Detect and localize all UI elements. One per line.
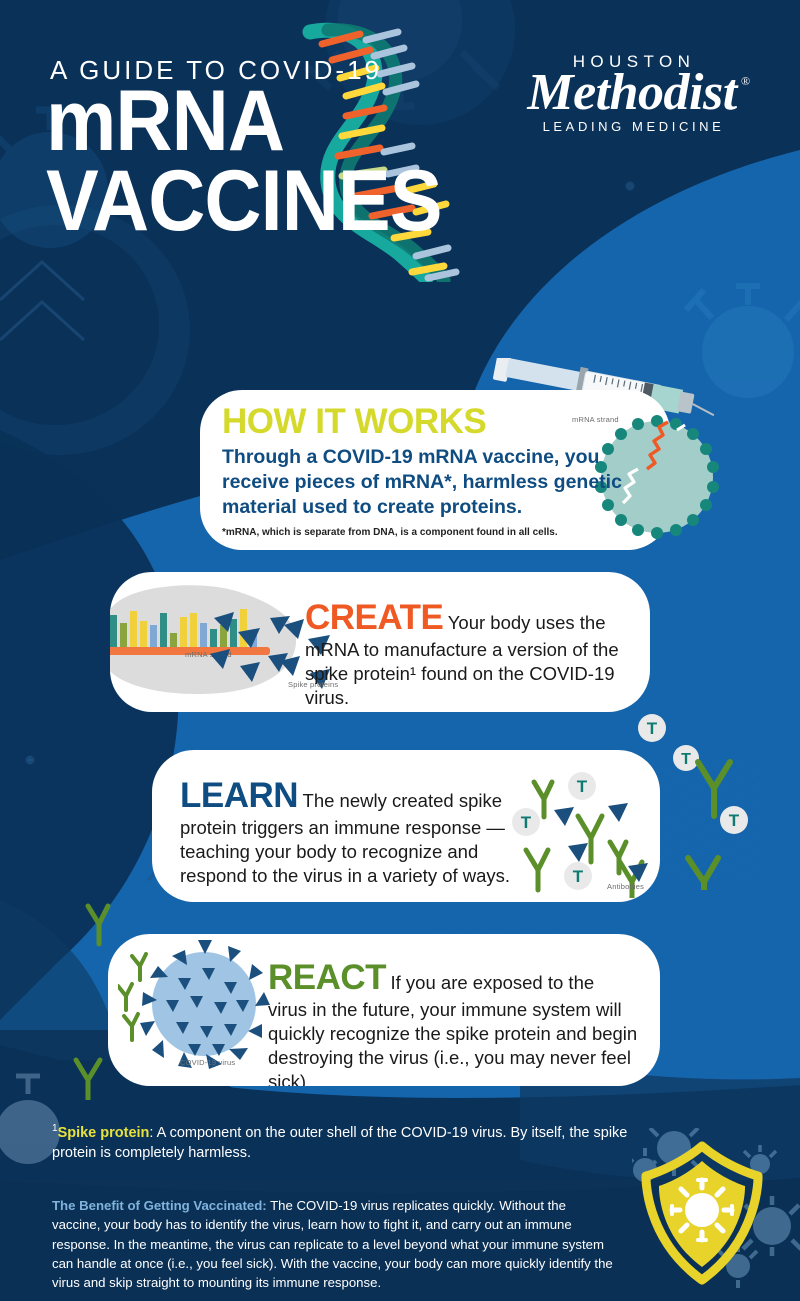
caption-antibodies: Antibodies xyxy=(607,882,644,891)
card-create: mRNA strand Spike proteins CREATE Your b… xyxy=(110,572,650,712)
logo-methodist: Methodist® xyxy=(527,68,736,117)
how-it-works-footnote: *mRNA, which is separate from DNA, is a … xyxy=(222,527,652,538)
card-react: COVID-19 virus REACT If you are exposed … xyxy=(108,934,660,1086)
svg-text:T: T xyxy=(681,751,691,768)
houston-methodist-logo: HOUSTON Methodist® LEADING MEDICINE xyxy=(502,52,762,134)
how-it-works-heading: HOW IT WORKS xyxy=(222,402,486,441)
card-learn: LEARN The newly created spike protein tr… xyxy=(152,750,660,902)
registered-trademark-icon: ® xyxy=(741,76,750,87)
react-content: REACT If you are exposed to the virus in… xyxy=(268,958,638,1086)
learn-heading: LEARN xyxy=(180,776,298,815)
header: A GUIDE TO COVID-19 mRNA VACCINES HOUSTO… xyxy=(0,0,800,290)
learn-content: LEARN The newly created spike protein tr… xyxy=(180,776,540,888)
spike-protein-footnote: 1Spike protein: A component on the outer… xyxy=(52,1122,652,1164)
svg-text:T: T xyxy=(573,867,584,886)
title-line-2: VACCINES xyxy=(46,162,442,242)
footnote-label: Spike protein xyxy=(58,1125,150,1141)
logo-tagline: LEADING MEDICINE xyxy=(502,119,762,134)
create-heading: CREATE xyxy=(305,598,443,637)
spike-proteins-icon xyxy=(200,600,310,710)
antibodies-illustration: T T T xyxy=(512,758,660,898)
caption-covid-virus: COVID-19 virus xyxy=(180,1058,235,1067)
caption-mrna-strand-1: mRNA strand xyxy=(572,415,619,424)
benefit-label: The Benefit of Getting Vaccinated: xyxy=(52,1198,267,1213)
react-heading: REACT xyxy=(268,958,386,997)
svg-text:T: T xyxy=(521,813,532,832)
shield-icon xyxy=(632,1128,800,1301)
logo-methodist-word: Methodist xyxy=(527,64,736,121)
benefit-paragraph: The Benefit of Getting Vaccinated: The C… xyxy=(52,1196,614,1292)
svg-text:T: T xyxy=(577,777,588,796)
svg-text:T: T xyxy=(729,811,740,830)
create-content: CREATE Your body uses the mRNA to manufa… xyxy=(305,598,625,710)
infographic-poster: A GUIDE TO COVID-19 mRNA VACCINES HOUSTO… xyxy=(0,0,800,1301)
svg-text:T: T xyxy=(647,719,658,738)
page-title: mRNA VACCINES xyxy=(46,82,442,242)
how-it-works-body: Through a COVID-19 mRNA vaccine, you rec… xyxy=(222,445,632,520)
